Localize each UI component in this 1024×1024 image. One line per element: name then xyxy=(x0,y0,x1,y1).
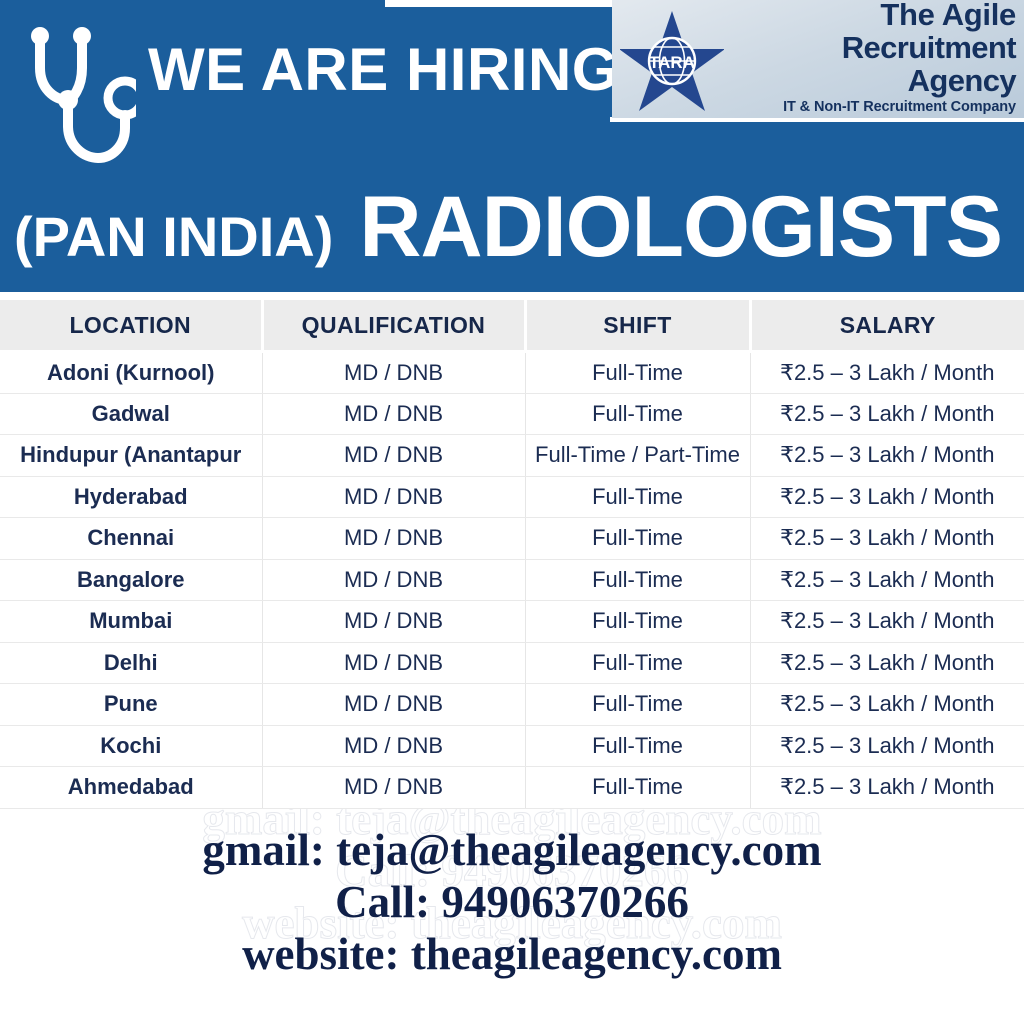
cell-location: Gadwal xyxy=(0,393,262,435)
cell-salary: ₹2.5 – 3 Lakh / Month xyxy=(750,601,1024,643)
cell-salary: ₹2.5 – 3 Lakh / Month xyxy=(750,559,1024,601)
agency-name-line1: The Agile xyxy=(730,0,1016,32)
cell-qualification: MD / DNB xyxy=(262,518,525,560)
contact-website[interactable]: website: theagileagency.com xyxy=(0,928,1024,980)
cell-salary: ₹2.5 – 3 Lakh / Month xyxy=(750,518,1024,560)
table-body: Adoni (Kurnool) MD / DNB Full-Time ₹2.5 … xyxy=(0,352,1024,809)
role-title: RADIOLOGISTS xyxy=(359,184,1002,270)
contact-email[interactable]: gmail: teja@theagileagency.com xyxy=(0,824,1024,876)
cell-shift: Full-Time xyxy=(525,393,750,435)
cell-salary: ₹2.5 – 3 Lakh / Month xyxy=(750,393,1024,435)
contact-phone[interactable]: Call: 94906370266 xyxy=(0,876,1024,928)
star-logo-icon: TARA xyxy=(620,7,724,111)
cell-shift: Full-Time xyxy=(525,684,750,726)
cell-qualification: MD / DNB xyxy=(262,435,525,477)
table-row: Delhi MD / DNB Full-Time ₹2.5 – 3 Lakh /… xyxy=(0,642,1024,684)
table-row: Kochi MD / DNB Full-Time ₹2.5 – 3 Lakh /… xyxy=(0,725,1024,767)
column-header-shift: SHIFT xyxy=(525,300,750,352)
cell-shift: Full-Time xyxy=(525,601,750,643)
cell-location: Mumbai xyxy=(0,601,262,643)
cell-shift: Full-Time xyxy=(525,642,750,684)
cell-shift: Full-Time xyxy=(525,352,750,394)
cell-location: Hyderabad xyxy=(0,476,262,518)
table-header-row: LOCATION QUALIFICATION SHIFT SALARY xyxy=(0,300,1024,352)
hiring-headline: WE ARE HIRING xyxy=(148,40,619,100)
cell-qualification: MD / DNB xyxy=(262,725,525,767)
column-header-salary: SALARY xyxy=(750,300,1024,352)
cell-salary: ₹2.5 – 3 Lakh / Month xyxy=(750,767,1024,809)
cell-salary: ₹2.5 – 3 Lakh / Month xyxy=(750,684,1024,726)
cell-qualification: MD / DNB xyxy=(262,767,525,809)
table-row: Bangalore MD / DNB Full-Time ₹2.5 – 3 La… xyxy=(0,559,1024,601)
agency-name-block: The Agile Recruitment Agency IT & Non-IT… xyxy=(724,0,1024,119)
cell-salary: ₹2.5 – 3 Lakh / Month xyxy=(750,476,1024,518)
cell-qualification: MD / DNB xyxy=(262,559,525,601)
cell-location: Bangalore xyxy=(0,559,262,601)
cell-shift: Full-Time xyxy=(525,518,750,560)
cell-qualification: MD / DNB xyxy=(262,476,525,518)
stethoscope-icon xyxy=(24,22,136,172)
table-row: Chennai MD / DNB Full-Time ₹2.5 – 3 Lakh… xyxy=(0,518,1024,560)
cell-location: Pune xyxy=(0,684,262,726)
cell-salary: ₹2.5 – 3 Lakh / Month xyxy=(750,642,1024,684)
table-row: Ahmedabad MD / DNB Full-Time ₹2.5 – 3 La… xyxy=(0,767,1024,809)
pan-india-label: (PAN INDIA) xyxy=(14,209,333,265)
column-header-qualification: QUALIFICATION xyxy=(262,300,525,352)
table-row: Gadwal MD / DNB Full-Time ₹2.5 – 3 Lakh … xyxy=(0,393,1024,435)
column-header-location: LOCATION xyxy=(0,300,262,352)
cell-salary: ₹2.5 – 3 Lakh / Month xyxy=(750,435,1024,477)
agency-logo-panel: TARA The Agile Recruitment Agency IT & N… xyxy=(612,0,1024,118)
cell-shift: Full-Time xyxy=(525,559,750,601)
job-listing-table: LOCATION QUALIFICATION SHIFT SALARY Adon… xyxy=(0,300,1024,809)
cell-qualification: MD / DNB xyxy=(262,684,525,726)
contact-block: gmail: teja@theagileagency.com Call: 949… xyxy=(0,824,1024,981)
table-row: Mumbai MD / DNB Full-Time ₹2.5 – 3 Lakh … xyxy=(0,601,1024,643)
cell-location: Kochi xyxy=(0,725,262,767)
cell-qualification: MD / DNB xyxy=(262,352,525,394)
cell-shift: Full-Time xyxy=(525,767,750,809)
role-headline-row: (PAN INDIA) RADIOLOGISTS xyxy=(14,184,1002,270)
cell-location: Ahmedabad xyxy=(0,767,262,809)
cell-shift: Full-Time / Part-Time xyxy=(525,435,750,477)
cell-location: Chennai xyxy=(0,518,262,560)
cell-location: Hindupur (Anantapur xyxy=(0,435,262,477)
poster-banner: WE ARE HIRING (PAN INDIA) RADIOLOGISTS T… xyxy=(0,0,1024,292)
table-row: Pune MD / DNB Full-Time ₹2.5 – 3 Lakh / … xyxy=(0,684,1024,726)
table-row: Hyderabad MD / DNB Full-Time ₹2.5 – 3 La… xyxy=(0,476,1024,518)
cell-location: Delhi xyxy=(0,642,262,684)
table-row: Hindupur (Anantapur MD / DNB Full-Time /… xyxy=(0,435,1024,477)
cell-location: Adoni (Kurnool) xyxy=(0,352,262,394)
cell-shift: Full-Time xyxy=(525,725,750,767)
agency-name-line2: Recruitment Agency xyxy=(730,32,1016,98)
star-logo-label: TARA xyxy=(649,53,695,72)
hiring-poster: WE ARE HIRING (PAN INDIA) RADIOLOGISTS T… xyxy=(0,0,1024,1024)
cell-shift: Full-Time xyxy=(525,476,750,518)
cell-salary: ₹2.5 – 3 Lakh / Month xyxy=(750,725,1024,767)
table-row: Adoni (Kurnool) MD / DNB Full-Time ₹2.5 … xyxy=(0,352,1024,394)
cell-qualification: MD / DNB xyxy=(262,601,525,643)
cell-qualification: MD / DNB xyxy=(262,393,525,435)
cell-salary: ₹2.5 – 3 Lakh / Month xyxy=(750,352,1024,394)
agency-tagline: IT & Non-IT Recruitment Company xyxy=(730,97,1016,119)
cell-qualification: MD / DNB xyxy=(262,642,525,684)
